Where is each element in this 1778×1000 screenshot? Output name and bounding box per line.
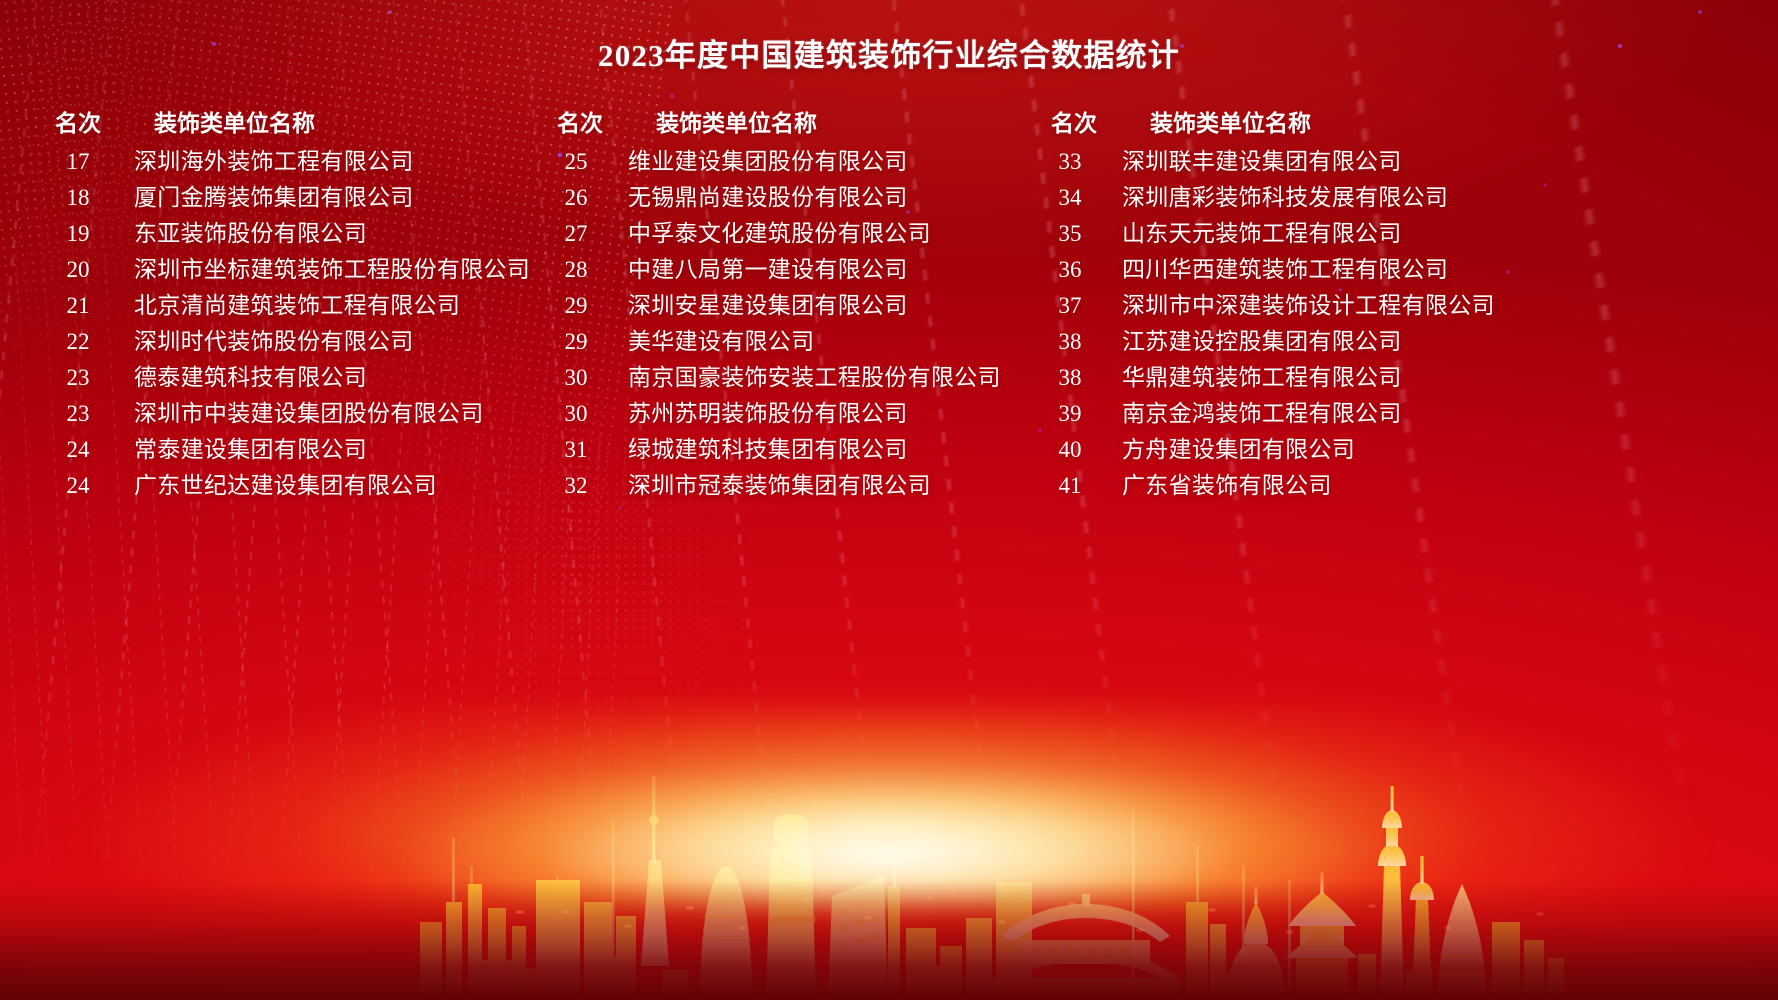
row-rank: 26 xyxy=(536,185,616,211)
ranking-column-1: 名次 装饰类单位名称 17 深圳海外装饰工程有限公司 18 厦门金腾装饰集团有限… xyxy=(34,104,554,502)
table-row[interactable]: 24 广东世纪达建设集团有限公司 xyxy=(34,466,554,502)
table-row[interactable]: 25 维业建设集团股份有限公司 xyxy=(536,142,1006,178)
row-company-name: 深圳市中深建装饰设计工程有限公司 xyxy=(1110,286,1495,320)
table-row[interactable]: 23 德泰建筑科技有限公司 xyxy=(34,358,554,394)
row-rank: 34 xyxy=(1030,185,1110,211)
table-row[interactable]: 22 深圳时代装饰股份有限公司 xyxy=(34,322,554,358)
row-company-name: 深圳唐彩装饰科技发展有限公司 xyxy=(1110,178,1448,212)
row-company-name: 绿城建筑科技集团有限公司 xyxy=(616,430,908,464)
table-row[interactable]: 32 深圳市冠泰装饰集团有限公司 xyxy=(536,466,1006,502)
table-row[interactable]: 29 深圳安星建设集团有限公司 xyxy=(536,286,1006,322)
table-row[interactable]: 37 深圳市中深建装饰设计工程有限公司 xyxy=(1030,286,1690,322)
table-row[interactable]: 35 山东天元装饰工程有限公司 xyxy=(1030,214,1690,250)
row-rank: 17 xyxy=(34,149,122,175)
poster-slide: 2023年度中国建筑装饰行业综合数据统计 名次 装饰类单位名称 17 深圳海外装… xyxy=(0,0,1778,1000)
table-row[interactable]: 33 深圳联丰建设集团有限公司 xyxy=(1030,142,1690,178)
column-header-rank: 名次 xyxy=(34,104,122,138)
row-rank: 36 xyxy=(1030,257,1110,283)
content-root: 2023年度中国建筑装饰行业综合数据统计 名次 装饰类单位名称 17 深圳海外装… xyxy=(0,0,1778,1000)
column-header-rank: 名次 xyxy=(536,104,624,138)
row-rank: 24 xyxy=(34,473,122,499)
row-company-name: 东亚装饰股份有限公司 xyxy=(122,214,367,248)
row-rank: 40 xyxy=(1030,437,1110,463)
row-rank: 23 xyxy=(34,365,122,391)
row-company-name: 方舟建设集团有限公司 xyxy=(1110,430,1355,464)
row-company-name: 深圳市坐标建筑装饰工程股份有限公司 xyxy=(122,250,530,284)
table-row[interactable]: 20 深圳市坐标建筑装饰工程股份有限公司 xyxy=(34,250,554,286)
row-rank: 21 xyxy=(34,293,122,319)
row-rank: 38 xyxy=(1030,329,1110,355)
table-row[interactable]: 26 无锡鼎尚建设股份有限公司 xyxy=(536,178,1006,214)
row-company-name: 德泰建筑科技有限公司 xyxy=(122,358,367,392)
row-company-name: 北京清尚建筑装饰工程有限公司 xyxy=(122,286,460,320)
row-company-name: 深圳海外装饰工程有限公司 xyxy=(122,142,414,176)
row-company-name: 江苏建设控股集团有限公司 xyxy=(1110,322,1402,356)
table-row[interactable]: 39 南京金鸿装饰工程有限公司 xyxy=(1030,394,1690,430)
row-rank: 23 xyxy=(34,401,122,427)
table-row[interactable]: 30 南京国豪装饰安装工程股份有限公司 xyxy=(536,358,1006,394)
table-row[interactable]: 24 常泰建设集团有限公司 xyxy=(34,430,554,466)
row-rank: 30 xyxy=(536,365,616,391)
row-rank: 37 xyxy=(1030,293,1110,319)
row-rank: 25 xyxy=(536,149,616,175)
ranking-column-3: 名次 装饰类单位名称 33 深圳联丰建设集团有限公司 34 深圳唐彩装饰科技发展… xyxy=(1030,104,1690,502)
table-row[interactable]: 23 深圳市中装建设集团股份有限公司 xyxy=(34,394,554,430)
row-company-name: 华鼎建筑装饰工程有限公司 xyxy=(1110,358,1402,392)
table-row[interactable]: 36 四川华西建筑装饰工程有限公司 xyxy=(1030,250,1690,286)
row-company-name: 南京金鸿装饰工程有限公司 xyxy=(1110,394,1402,428)
column-header-rank: 名次 xyxy=(1030,104,1118,138)
row-company-name: 深圳市冠泰装饰集团有限公司 xyxy=(616,466,931,500)
row-company-name: 中建八局第一建设有限公司 xyxy=(616,250,908,284)
row-rank: 22 xyxy=(34,329,122,355)
column-header: 名次 装饰类单位名称 xyxy=(536,104,1006,142)
column-header: 名次 装饰类单位名称 xyxy=(1030,104,1690,142)
row-rank: 35 xyxy=(1030,221,1110,247)
column-header-name: 装饰类单位名称 xyxy=(624,104,817,138)
row-company-name: 深圳市中装建设集团股份有限公司 xyxy=(122,394,484,428)
row-company-name: 深圳安星建设集团有限公司 xyxy=(616,286,908,320)
row-company-name: 苏州苏明装饰股份有限公司 xyxy=(616,394,908,428)
page-title: 2023年度中国建筑装饰行业综合数据统计 xyxy=(0,30,1778,75)
row-company-name: 深圳时代装饰股份有限公司 xyxy=(122,322,414,356)
row-company-name: 山东天元装饰工程有限公司 xyxy=(1110,214,1402,248)
row-rank: 38 xyxy=(1030,365,1110,391)
row-company-name: 中孚泰文化建筑股份有限公司 xyxy=(616,214,931,248)
column-header-name: 装饰类单位名称 xyxy=(1118,104,1311,138)
table-row[interactable]: 17 深圳海外装饰工程有限公司 xyxy=(34,142,554,178)
row-rank: 31 xyxy=(536,437,616,463)
row-rank: 30 xyxy=(536,401,616,427)
ranking-columns: 名次 装饰类单位名称 17 深圳海外装饰工程有限公司 18 厦门金腾装饰集团有限… xyxy=(0,104,1778,502)
row-rank: 27 xyxy=(536,221,616,247)
row-company-name: 四川华西建筑装饰工程有限公司 xyxy=(1110,250,1448,284)
row-rank: 32 xyxy=(536,473,616,499)
column-header-name: 装饰类单位名称 xyxy=(122,104,315,138)
table-row[interactable]: 41 广东省装饰有限公司 xyxy=(1030,466,1690,502)
table-row[interactable]: 40 方舟建设集团有限公司 xyxy=(1030,430,1690,466)
table-row[interactable]: 38 华鼎建筑装饰工程有限公司 xyxy=(1030,358,1690,394)
row-company-name: 美华建设有限公司 xyxy=(616,322,814,356)
row-company-name: 无锡鼎尚建设股份有限公司 xyxy=(616,178,908,212)
row-company-name: 厦门金腾装饰集团有限公司 xyxy=(122,178,414,212)
table-row[interactable]: 30 苏州苏明装饰股份有限公司 xyxy=(536,394,1006,430)
table-row[interactable]: 31 绿城建筑科技集团有限公司 xyxy=(536,430,1006,466)
row-rank: 24 xyxy=(34,437,122,463)
table-row[interactable]: 29 美华建设有限公司 xyxy=(536,322,1006,358)
row-rank: 29 xyxy=(536,293,616,319)
table-row[interactable]: 27 中孚泰文化建筑股份有限公司 xyxy=(536,214,1006,250)
row-rank: 28 xyxy=(536,257,616,283)
ranking-column-2: 名次 装饰类单位名称 25 维业建设集团股份有限公司 26 无锡鼎尚建设股份有限… xyxy=(536,104,1006,502)
row-company-name: 维业建设集团股份有限公司 xyxy=(616,142,908,176)
row-rank: 19 xyxy=(34,221,122,247)
table-row[interactable]: 21 北京清尚建筑装饰工程有限公司 xyxy=(34,286,554,322)
row-company-name: 广东世纪达建设集团有限公司 xyxy=(122,466,437,500)
row-rank: 33 xyxy=(1030,149,1110,175)
row-rank: 18 xyxy=(34,185,122,211)
row-rank: 39 xyxy=(1030,401,1110,427)
table-row[interactable]: 34 深圳唐彩装饰科技发展有限公司 xyxy=(1030,178,1690,214)
table-row[interactable]: 18 厦门金腾装饰集团有限公司 xyxy=(34,178,554,214)
table-row[interactable]: 28 中建八局第一建设有限公司 xyxy=(536,250,1006,286)
row-company-name: 常泰建设集团有限公司 xyxy=(122,430,367,464)
row-company-name: 南京国豪装饰安装工程股份有限公司 xyxy=(616,358,1001,392)
row-rank: 41 xyxy=(1030,473,1110,499)
row-company-name: 广东省装饰有限公司 xyxy=(1110,466,1332,500)
column-header: 名次 装饰类单位名称 xyxy=(34,104,554,142)
table-row[interactable]: 19 东亚装饰股份有限公司 xyxy=(34,214,554,250)
row-rank: 29 xyxy=(536,329,616,355)
row-rank: 20 xyxy=(34,257,122,283)
row-company-name: 深圳联丰建设集团有限公司 xyxy=(1110,142,1402,176)
table-row[interactable]: 38 江苏建设控股集团有限公司 xyxy=(1030,322,1690,358)
